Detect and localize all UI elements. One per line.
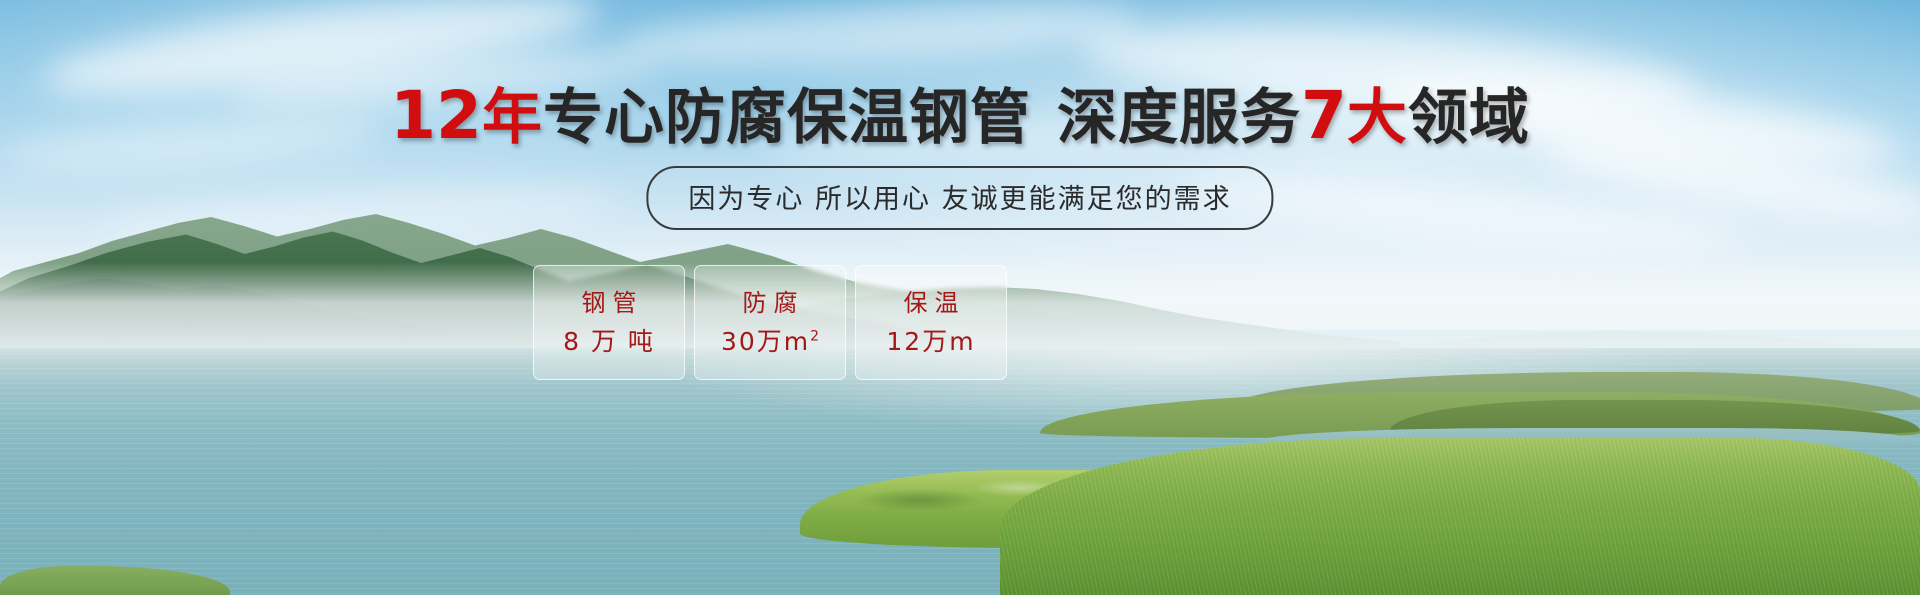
stat-card-anticorrosion: 防腐 30万m2 <box>694 265 846 380</box>
headline-service-phrase: 深度服务 <box>1057 83 1301 153</box>
headline: 12年专心防腐保温钢管深度服务7大领域 <box>0 83 1920 149</box>
promo-banner: 12年专心防腐保温钢管深度服务7大领域 因为专心 所以用心 友诚更能满足您的需求… <box>0 0 1920 595</box>
headline-main-phrase: 专心防腐保温钢管 <box>543 83 1031 153</box>
stat-value-main: 30万m <box>721 327 810 356</box>
stat-card-steel-pipe: 钢管 8 万 吨 <box>533 265 685 380</box>
subtitle-pill: 因为专心 所以用心 友诚更能满足您的需求 <box>646 166 1273 230</box>
stat-card-title: 钢管 <box>575 291 644 315</box>
stat-card-value: 12万m <box>886 329 975 354</box>
headline-fields-number: 7 <box>1301 77 1347 154</box>
stat-card-insulation: 保温 12万m <box>855 265 1007 380</box>
stat-card-title: 防腐 <box>736 291 805 315</box>
headline-fields-unit: 大 <box>1347 83 1408 153</box>
headline-years-number: 12 <box>390 77 482 154</box>
stat-card-title: 保温 <box>897 291 966 315</box>
stat-value-main: 8 万 吨 <box>563 327 655 356</box>
stat-card-group: 钢管 8 万 吨 防腐 30万m2 保温 12万m <box>533 265 1007 380</box>
stat-value-main: 12万m <box>886 327 975 356</box>
stat-card-value: 8 万 吨 <box>563 329 655 354</box>
headline-fields-suffix: 领域 <box>1408 83 1530 153</box>
stat-value-superscript: 2 <box>810 329 819 345</box>
headline-years-unit: 年 <box>482 83 543 153</box>
stat-card-value: 30万m2 <box>721 329 819 354</box>
foreground-grass-texture <box>1000 438 1920 595</box>
